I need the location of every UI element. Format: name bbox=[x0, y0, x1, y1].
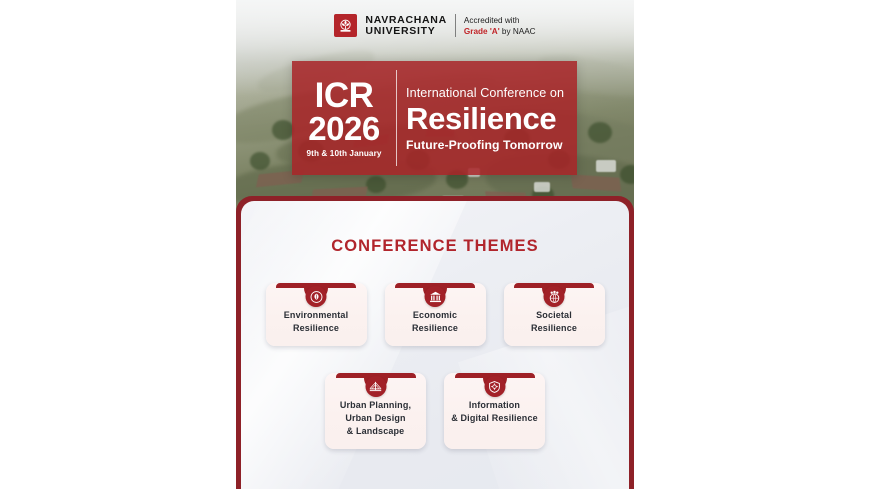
theme-label-line2: Urban Design bbox=[345, 413, 405, 423]
banner-right-block: International Conference on Resilience F… bbox=[397, 61, 577, 175]
themes-row-2: Urban Planning,Urban Design& Landscape bbox=[241, 373, 629, 449]
navrachana-emblem-icon bbox=[334, 14, 357, 37]
conference-subtitle: International Conference on bbox=[406, 84, 569, 102]
leaf-shield-icon bbox=[306, 286, 327, 307]
themes-panel-frame: CONFERENCE THEMES bbox=[236, 196, 634, 489]
accreditation-block: Accredited with Grade 'A' by NAAC bbox=[464, 15, 536, 37]
theme-card-label: SocietalResilience bbox=[526, 309, 582, 335]
theme-label-line3: & Landscape bbox=[347, 426, 405, 436]
theme-label-line2: Resilience bbox=[293, 323, 339, 333]
theme-label-line1: Environmental bbox=[284, 310, 348, 320]
header-divider bbox=[455, 14, 456, 37]
bridge-icon bbox=[365, 376, 386, 397]
conference-year: 2026 bbox=[308, 112, 379, 145]
conference-tagline: Future-Proofing Tomorrow bbox=[406, 136, 569, 154]
university-name: NAVRACHANA UNIVERSITY bbox=[365, 15, 446, 37]
theme-card-label: Urban Planning,Urban Design& Landscape bbox=[335, 399, 416, 438]
themes-panel: CONFERENCE THEMES bbox=[241, 201, 629, 489]
university-name-line2: UNIVERSITY bbox=[365, 26, 446, 37]
conference-poster: NAVRACHANA UNIVERSITY Accredited with Gr… bbox=[236, 0, 634, 489]
digital-shield-icon bbox=[484, 376, 505, 397]
bank-building-icon bbox=[425, 286, 446, 307]
banner-left-block: ICR 2026 9th & 10th January bbox=[292, 61, 396, 175]
theme-label-line2: Resilience bbox=[412, 323, 458, 333]
theme-label-line1: Economic bbox=[413, 310, 457, 320]
theme-card-economic[interactable]: EconomicResilience bbox=[385, 283, 486, 346]
themes-row-1: EnvironmentalResilience bbox=[241, 283, 629, 346]
accreditation-line1: Accredited with bbox=[464, 15, 536, 26]
theme-card-label: EconomicResilience bbox=[407, 309, 463, 335]
page-title: CONFERENCE THEMES bbox=[241, 237, 629, 256]
theme-card-societal[interactable]: SocietalResilience bbox=[504, 283, 605, 346]
theme-label-line2: & Digital Resilience bbox=[451, 413, 538, 423]
conference-acronym: ICR bbox=[315, 79, 374, 112]
university-name-line1: NAVRACHANA bbox=[365, 15, 446, 26]
conference-dates: 9th & 10th January bbox=[306, 148, 381, 160]
accreditation-line2: Grade 'A' by NAAC bbox=[464, 26, 536, 37]
globe-people-icon bbox=[544, 286, 565, 307]
theme-label-line1: Societal bbox=[536, 310, 572, 320]
theme-card-urban-planning[interactable]: Urban Planning,Urban Design& Landscape bbox=[325, 373, 426, 449]
accreditation-grade: Grade 'A' bbox=[464, 27, 500, 36]
conference-main-title: Resilience bbox=[406, 102, 569, 136]
conference-title-banner: ICR 2026 9th & 10th January Internationa… bbox=[292, 61, 577, 175]
theme-card-label: Information& Digital Resilience bbox=[446, 399, 543, 425]
theme-label-line1: Urban Planning, bbox=[340, 400, 411, 410]
poster-screenshot: NAVRACHANA UNIVERSITY Accredited with Gr… bbox=[0, 0, 870, 489]
theme-label-line1: Information bbox=[469, 400, 520, 410]
theme-card-environmental[interactable]: EnvironmentalResilience bbox=[266, 283, 367, 346]
accreditation-naac: by NAAC bbox=[500, 27, 536, 36]
theme-card-label: EnvironmentalResilience bbox=[279, 309, 353, 335]
university-branding-header: NAVRACHANA UNIVERSITY Accredited with Gr… bbox=[236, 14, 634, 37]
theme-card-information-digital[interactable]: Information& Digital Resilience bbox=[444, 373, 545, 449]
theme-label-line2: Resilience bbox=[531, 323, 577, 333]
